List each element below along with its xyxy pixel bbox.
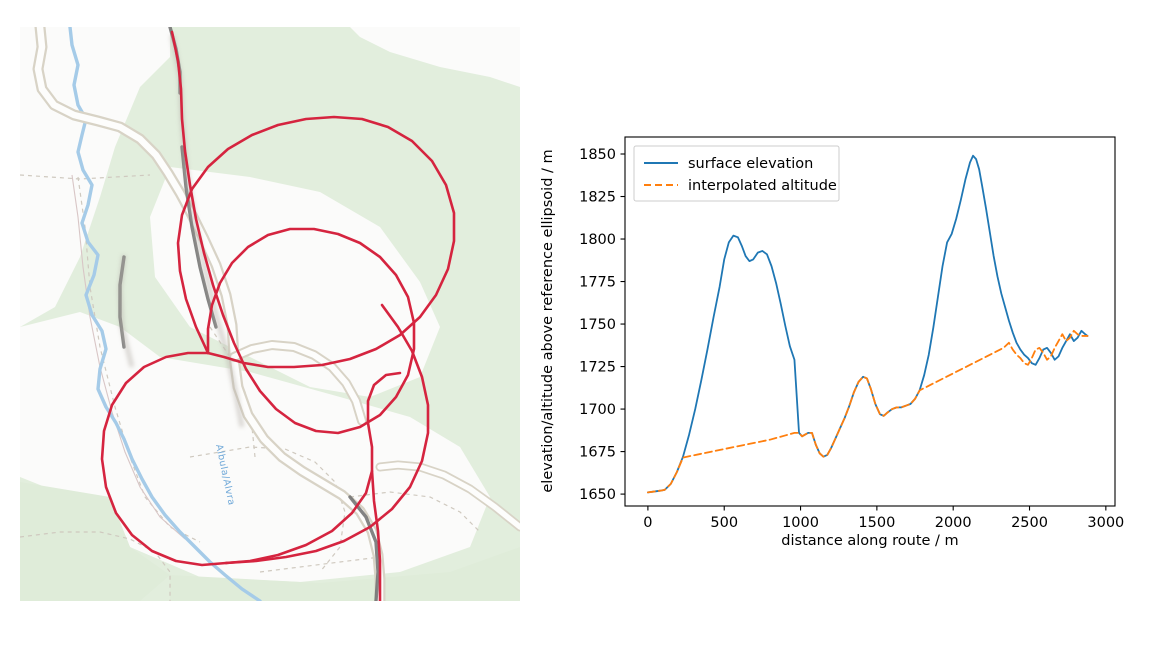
y-tick-label: 1850 (579, 147, 616, 163)
x-tick-label: 2500 (1011, 515, 1048, 531)
elevation-profile-panel: 050010001500200025003000 165016751700172… (530, 120, 1140, 560)
x-axis-ticks: 050010001500200025003000 (643, 506, 1124, 531)
y-tick-label: 1675 (579, 445, 616, 461)
chart-legend[interactable]: surface elevation interpolated altitude (634, 146, 839, 201)
y-tick-label: 1650 (579, 487, 616, 503)
x-tick-label: 500 (710, 515, 738, 531)
y-axis-title: elevation/altitude above reference ellip… (540, 149, 556, 492)
x-tick-label: 1500 (858, 515, 895, 531)
legend-label-surface-elevation: surface elevation (688, 156, 813, 172)
legend-label-interpolated-altitude: interpolated altitude (688, 178, 837, 194)
x-tick-label: 2000 (935, 515, 972, 531)
x-tick-label: 3000 (1087, 515, 1124, 531)
y-tick-label: 1800 (579, 232, 616, 248)
route-map-panel: Albula/Alvra (20, 27, 520, 601)
x-axis-title: distance along route / m (781, 533, 958, 549)
y-tick-label: 1750 (579, 317, 616, 333)
y-tick-label: 1725 (579, 360, 616, 376)
y-tick-label: 1700 (579, 402, 616, 418)
y-axis-ticks: 165016751700172517501775180018251850 (579, 147, 625, 503)
figure-root: Albula/Alvra (0, 0, 1149, 660)
route-map-canvas: Albula/Alvra (20, 27, 520, 601)
elevation-profile-canvas: 050010001500200025003000 165016751700172… (530, 120, 1140, 560)
x-tick-label: 1000 (782, 515, 819, 531)
x-tick-label: 0 (643, 515, 652, 531)
y-tick-label: 1775 (579, 275, 616, 291)
y-tick-label: 1825 (579, 190, 616, 206)
